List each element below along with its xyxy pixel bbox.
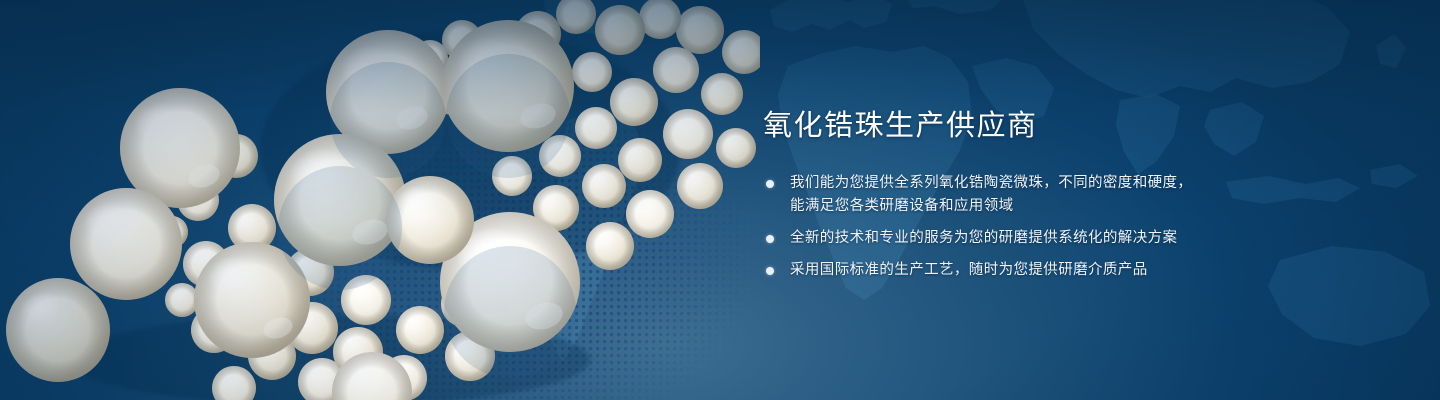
list-item: 采用国际标准的生产工艺，随时为您提供研磨介质产品 — [763, 259, 1383, 282]
bullet-dot-icon — [766, 267, 774, 275]
bullet-text-line1: 全新的技术和专业的服务为您的研磨提供系统化的解决方案 — [790, 227, 1383, 250]
feature-bullet-list: 我们能为您提供全系列氧化锆陶瓷微珠，不同的密度和硬度， 能满足您各类研磨设备和应… — [763, 172, 1383, 282]
bullet-dot-icon — [766, 235, 774, 243]
bullet-text-line1: 采用国际标准的生产工艺，随时为您提供研磨介质产品 — [790, 259, 1383, 282]
hero-banner: 氧化锆珠生产供应商 我们能为您提供全系列氧化锆陶瓷微珠，不同的密度和硬度， 能满… — [0, 0, 1440, 400]
bullet-text-line1: 我们能为您提供全系列氧化锆陶瓷微珠，不同的密度和硬度， — [790, 172, 1383, 195]
list-item: 全新的技术和专业的服务为您的研磨提供系统化的解决方案 — [763, 227, 1383, 250]
list-item: 我们能为您提供全系列氧化锆陶瓷微珠，不同的密度和硬度， 能满足您各类研磨设备和应… — [763, 172, 1383, 218]
banner-copy-block: 氧化锆珠生产供应商 我们能为您提供全系列氧化锆陶瓷微珠，不同的密度和硬度， 能满… — [763, 106, 1383, 282]
bullet-text-line2: 能满足您各类研磨设备和应用领域 — [790, 195, 1383, 218]
bullet-dot-icon — [766, 180, 774, 188]
page-title: 氧化锆珠生产供应商 — [763, 106, 1383, 146]
